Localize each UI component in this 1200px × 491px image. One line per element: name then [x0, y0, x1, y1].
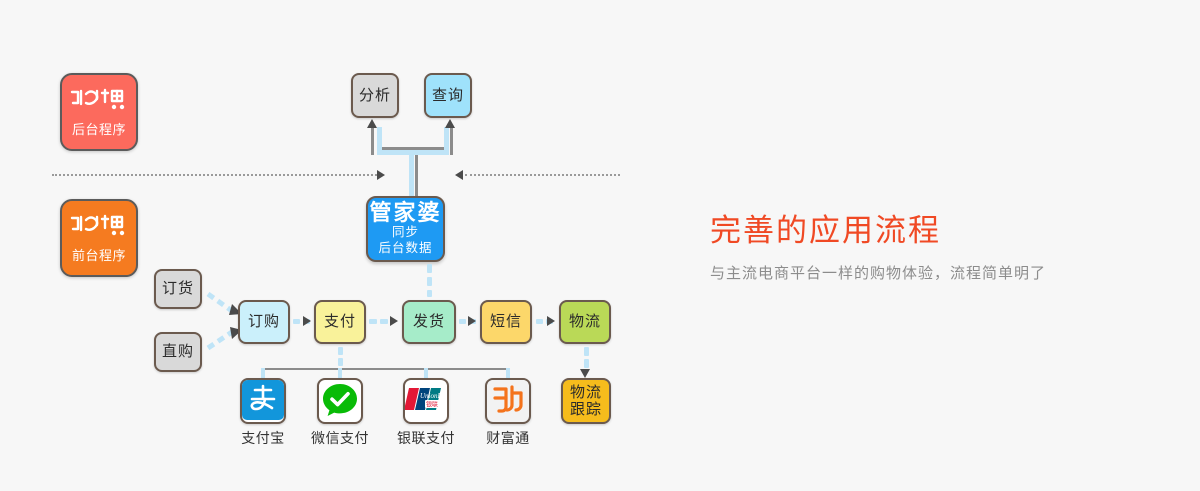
- node-logistics[interactable]: 物流: [559, 300, 611, 344]
- divider-arrow-left-icon: [455, 170, 463, 180]
- hub-subtitle-data: 后台数据: [378, 241, 432, 257]
- node-label: 物流: [569, 313, 601, 330]
- brand-tile-backend: 后台程序: [60, 73, 138, 151]
- shopping-cart-logo-mark: [69, 87, 129, 116]
- hub-subtitle-sync: 同步: [392, 225, 419, 241]
- hub-to-shipping-dash: [427, 277, 432, 286]
- query-riser-line: [450, 127, 453, 155]
- analysis-arrow-up-icon: [367, 119, 377, 128]
- node-direct-buy[interactable]: 直购: [154, 332, 202, 372]
- flow-arrow-2-dash: [380, 319, 388, 324]
- hub-guanjiapo[interactable]: 管家婆 同步 后台数据: [366, 196, 445, 262]
- node-label: 订购: [248, 313, 280, 330]
- payment-caption-tenpay: 财富通: [472, 428, 544, 448]
- tracking-label-line1: 物流: [570, 384, 602, 401]
- page-subtitle: 与主流电商平台一样的购物体验，流程简单明了: [710, 263, 1150, 284]
- node-label: 短信: [490, 313, 522, 330]
- brand-label: 前台程序: [72, 245, 126, 264]
- t-crossbar-line: [377, 147, 449, 150]
- logistics-stub-dash: [584, 347, 589, 356]
- node-payment[interactable]: 支付: [314, 300, 366, 344]
- payment-tile-unionpay[interactable]: UnionPay 银联: [403, 378, 449, 424]
- payment-caption-alipay: 支付宝: [228, 428, 298, 448]
- hub-title: 管家婆: [369, 201, 441, 225]
- payment-caption-wechat: 微信支付: [300, 428, 380, 448]
- node-analysis[interactable]: 分析: [351, 73, 399, 118]
- hub-riser-line: [415, 150, 418, 196]
- divider-arrow-right-icon: [377, 170, 385, 180]
- node-label: 订货: [162, 280, 194, 297]
- marketing-copy: 完善的应用流程 与主流电商平台一样的购物体验，流程简单明了: [710, 212, 1150, 284]
- payment-tile-alipay[interactable]: [240, 378, 286, 424]
- query-riser-highlight: [444, 127, 449, 155]
- flow-arrow-3-icon: [468, 316, 476, 326]
- hub-to-shipping-dash: [427, 290, 432, 297]
- node-label: 支付: [324, 313, 356, 330]
- payment-tile-tenpay[interactable]: [485, 378, 531, 424]
- analysis-riser-highlight: [377, 127, 382, 155]
- diagram-canvas: 后台程序 前台程序: [0, 0, 1200, 491]
- flow-arrow-2-icon: [390, 316, 398, 326]
- node-label: 直购: [162, 343, 194, 360]
- tenpay-icon: [488, 379, 528, 424]
- node-shipping[interactable]: 发货: [402, 300, 456, 344]
- payment-bus-line: [262, 368, 509, 370]
- payment-stub-dash: [338, 347, 343, 355]
- flow-arrow-3-dash: [459, 319, 466, 324]
- payment-tile-wechat[interactable]: [317, 378, 363, 424]
- query-arrow-up-icon: [445, 119, 455, 128]
- payment-stub-dash: [338, 358, 343, 366]
- node-purchase[interactable]: 订购: [238, 300, 290, 344]
- wechat-pay-icon: [320, 379, 360, 424]
- brand-tile-frontend: 前台程序: [60, 199, 138, 277]
- svg-text:UnionPay: UnionPay: [420, 392, 447, 400]
- unionpay-icon: UnionPay 银联: [405, 384, 447, 419]
- node-label: 查询: [432, 87, 464, 104]
- svg-text:银联: 银联: [426, 400, 438, 408]
- node-label: 发货: [413, 313, 445, 330]
- shopping-cart-logo-mark: [69, 213, 129, 242]
- node-query[interactable]: 查询: [424, 73, 472, 118]
- dotted-divider-left: [52, 174, 377, 176]
- page-title: 完善的应用流程: [710, 212, 1150, 249]
- node-sms[interactable]: 短信: [480, 300, 532, 344]
- flow-arrow-2-dash: [369, 319, 377, 324]
- flow-arrow-1-icon: [303, 316, 311, 326]
- dotted-divider-right: [465, 174, 620, 176]
- flow-arrow-4-icon: [547, 316, 555, 326]
- node-label: 分析: [359, 87, 391, 104]
- alipay-icon: [242, 378, 284, 424]
- payment-caption-unionpay: 银联支付: [386, 428, 466, 448]
- hub-riser-highlight: [409, 150, 414, 196]
- logistics-arrow-down-icon: [580, 369, 590, 378]
- hub-to-shipping-dash: [427, 264, 432, 273]
- logistics-stub-dash: [584, 359, 589, 368]
- node-order-goods[interactable]: 订货: [154, 269, 202, 309]
- flow-arrow-1-dash: [293, 319, 300, 324]
- t-crossbar-highlight: [377, 150, 449, 155]
- flow-arrow-4-dash: [536, 319, 543, 324]
- brand-label: 后台程序: [72, 119, 126, 138]
- analysis-riser-line: [371, 127, 374, 155]
- node-logistics-tracking[interactable]: 物流 跟踪: [561, 378, 611, 424]
- tracking-label-line2: 跟踪: [570, 401, 602, 418]
